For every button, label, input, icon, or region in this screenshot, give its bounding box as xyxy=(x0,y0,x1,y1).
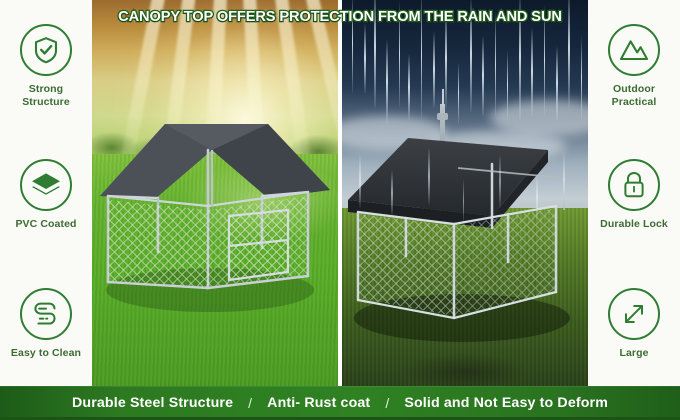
banner-separator: / xyxy=(235,395,265,411)
feature-label: PVC Coated xyxy=(15,218,76,230)
feature-label: Outdoor Practical xyxy=(612,83,657,108)
banner-item-not-deform: Solid and Not Easy to Deform xyxy=(402,395,610,411)
bottom-feature-banner: Durable Steel Structure / Anti- Rust coa… xyxy=(0,386,680,420)
layers-icon xyxy=(20,159,72,211)
wipe-clean-icon xyxy=(20,288,72,340)
feature-pvc-coated: PVC Coated xyxy=(0,129,92,258)
feature-label: Large xyxy=(619,347,648,359)
feature-strong-structure: Strong Structure xyxy=(0,0,92,129)
padlock-icon xyxy=(608,159,660,211)
banner-separator: / xyxy=(372,395,402,411)
kennel-structure-rainy xyxy=(342,0,588,386)
product-feature-poster: Strong Structure PVC Coated xyxy=(0,0,680,420)
left-feature-rail: Strong Structure PVC Coated xyxy=(0,0,92,386)
feature-easy-to-clean: Easy to Clean xyxy=(0,257,92,386)
banner-item-anti-rust: Anti- Rust coat xyxy=(265,395,372,411)
rainy-kennel-photo xyxy=(342,0,588,386)
photo-strip xyxy=(92,0,588,386)
feature-durable-lock: Durable Lock xyxy=(588,129,680,258)
feature-label: Strong Structure xyxy=(22,83,70,108)
expand-arrows-icon xyxy=(608,288,660,340)
kennel-structure-sunny xyxy=(92,0,338,386)
feature-label: Durable Lock xyxy=(600,218,668,230)
feature-outdoor-practical: Outdoor Practical xyxy=(588,0,680,129)
sunny-kennel-photo xyxy=(92,0,338,386)
right-feature-rail: Outdoor Practical Durable Lock Large xyxy=(588,0,680,386)
feature-label: Easy to Clean xyxy=(11,347,81,359)
page-title: CANOPY TOP OFFERS PROTECTION FROM THE RA… xyxy=(92,9,588,25)
banner-item-steel-structure: Durable Steel Structure xyxy=(70,395,235,411)
feature-large: Large xyxy=(588,257,680,386)
mountains-icon xyxy=(608,24,660,76)
shield-check-icon xyxy=(20,24,72,76)
